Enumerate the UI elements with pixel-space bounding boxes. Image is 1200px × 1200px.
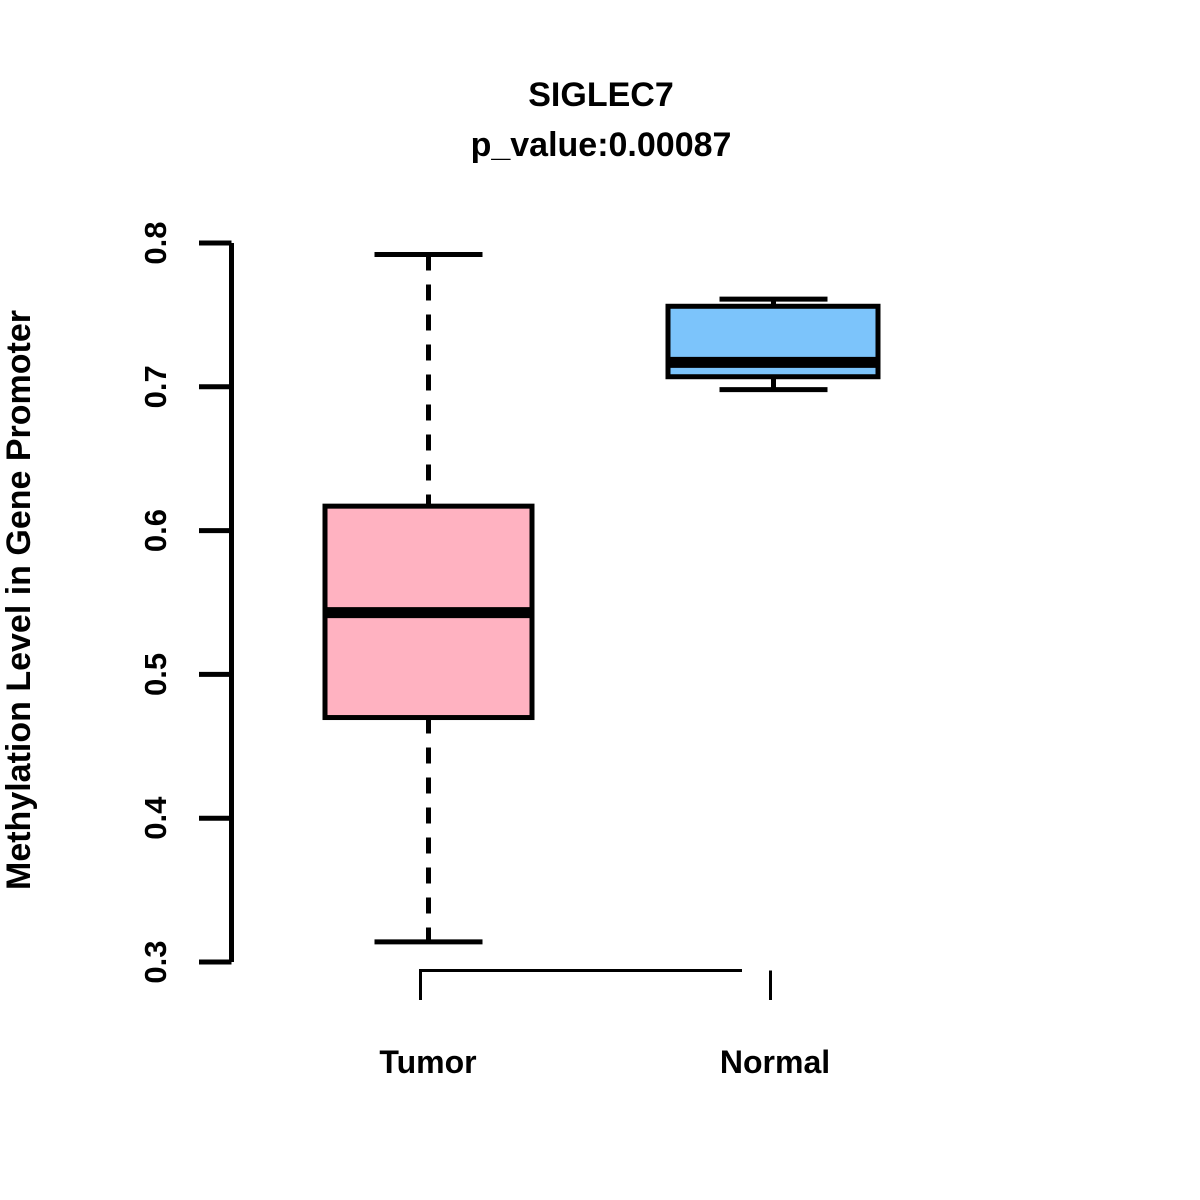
y-tick-label-1: 0.7 (138, 365, 173, 408)
figure-background (0, 0, 1200, 1200)
y-tick-label-5: 0.3 (138, 940, 173, 983)
box-group-normal[interactable] (666, 299, 881, 390)
chart-subtitle-pvalue: p_value:0.00087 (471, 126, 732, 164)
chart-title: SIGLEC7 (528, 76, 673, 114)
x-label-normal: Normal (720, 1044, 830, 1080)
boxplot-canvas: SIGLEC7 p_value:0.00087 Methylation Leve… (0, 0, 1200, 1200)
x-label-tumor: Tumor (379, 1044, 476, 1080)
y-tick-label-0: 0.8 (138, 221, 173, 264)
y-axis-title: Methylation Level in Gene Promoter (0, 310, 38, 890)
y-tick-label-3: 0.5 (138, 653, 173, 696)
y-tick-label-4: 0.4 (138, 796, 173, 840)
boxplot-figure: SIGLEC7 p_value:0.00087 Methylation Leve… (0, 0, 1200, 1200)
y-tick-label-2: 0.6 (138, 509, 173, 552)
